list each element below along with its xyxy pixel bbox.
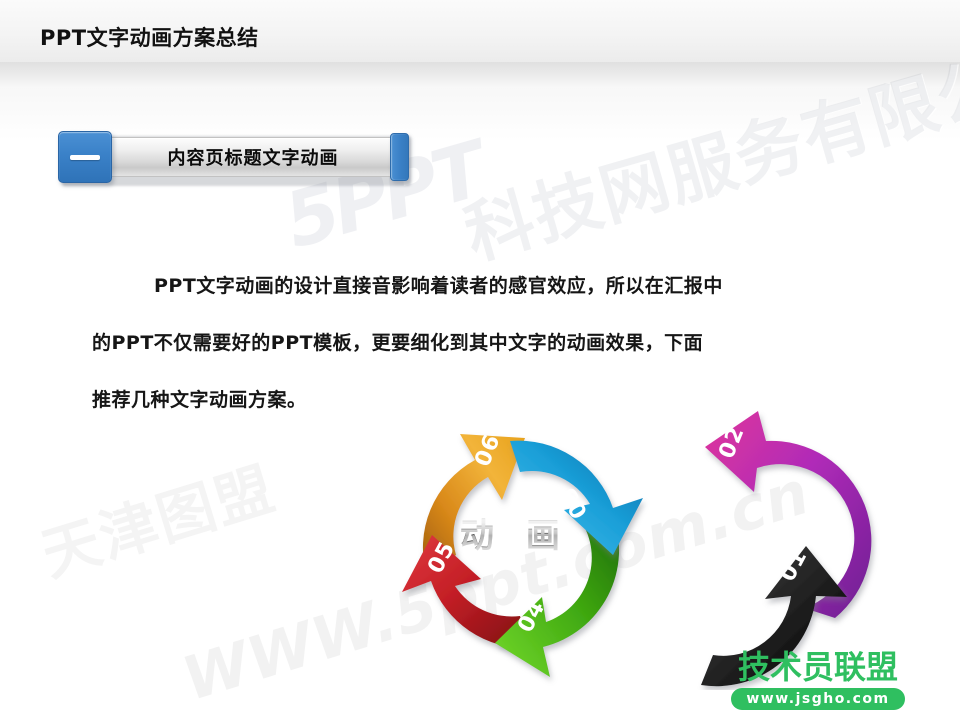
cycle-arrow-diagram: 06 05 04 03 02 01 <box>380 400 880 690</box>
page-title: PPT文字动画方案总结 <box>40 22 259 52</box>
section-bar-end-tab <box>390 133 409 181</box>
minus-dash-glyph <box>70 155 100 160</box>
minus-dash-icon <box>58 131 112 183</box>
watermark-company: 科技网服务有限公司 <box>452 9 960 278</box>
section-title-label: 内容页标题文字动画 <box>128 144 378 170</box>
slide-canvas: PPT文字动画方案总结 5PPT 科技网服务有限公司 天津图盟 WWW.5ppt… <box>0 0 960 720</box>
brand-url: www.jsgho.com <box>731 688 905 710</box>
body-line-2: 的PPT不仅需要好的PPT模板，更要细化到其中文字的动画效果，下面 <box>92 315 882 372</box>
diagram-center-label: 动 画 <box>460 508 570 557</box>
brand-name: 技术员联盟 <box>723 650 913 684</box>
body-line-1: PPT文字动画的设计直接音影响着读者的感官效应，所以在汇报中 <box>92 258 882 315</box>
watermark-company-left: 天津图盟 <box>30 442 284 593</box>
brand-logo: 技术员联盟 www.jsgho.com <box>723 650 913 712</box>
section-title-bar: 内容页标题文字动画 <box>58 131 407 183</box>
header-edge <box>0 62 960 88</box>
